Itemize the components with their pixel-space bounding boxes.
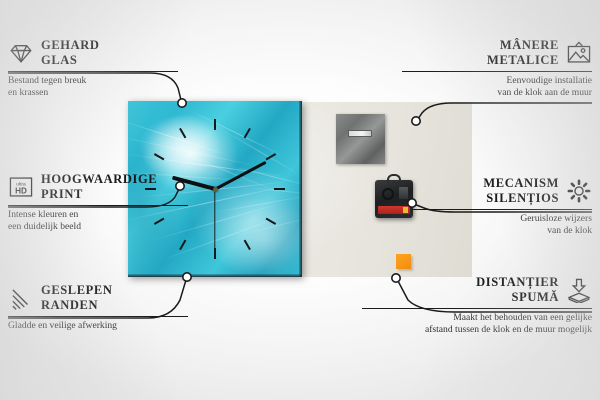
callout-desc-2: van de klok [412, 225, 592, 237]
callout-desc-2: van de klok aan de muur [402, 87, 592, 99]
callout-gehard-glas: GEHARD GLAS Bestand tegen breuk en krass… [8, 38, 178, 98]
svg-text:HD: HD [15, 187, 27, 196]
clock-tick [214, 119, 216, 130]
spacer-press-icon [566, 277, 592, 303]
beveled-edges-icon [8, 285, 34, 311]
callout-desc-1: Maakt het behouden van een gelijke [362, 312, 592, 324]
callout-title: GEHARD GLAS [41, 38, 99, 68]
callout-head: GEHARD GLAS [8, 38, 178, 68]
callout-rule [402, 71, 592, 72]
callout-rule [362, 308, 592, 309]
callout-desc-1: Intense kleuren en [8, 209, 188, 221]
foam-spacer [396, 254, 411, 269]
callout-desc-2: en krassen [8, 87, 178, 99]
infographic-canvas: GEHARD GLAS Bestand tegen breuk en krass… [0, 0, 600, 400]
callout-manere-metalice: MÂNERE METALICE Eenvoudige installatie v… [402, 38, 592, 98]
gear-icon [566, 178, 592, 204]
callout-title: HOOGWAARDIGE PRINT [41, 172, 157, 202]
callout-head: MECANISM SILENȚIOS [412, 176, 592, 206]
callout-desc-2: afstand tussen de klok en de muur mogeli… [362, 324, 592, 336]
diamond-icon [8, 40, 34, 66]
callout-rule [412, 209, 592, 210]
battery [378, 206, 410, 214]
callout-desc-1: Bestand tegen breuk [8, 75, 178, 87]
callout-head: DISTANȚIER SPUMĂ [362, 275, 592, 305]
callout-title: MECANISM SILENȚIOS [483, 176, 559, 206]
callout-desc-1: Eenvoudige installatie [402, 75, 592, 87]
callout-title: GESLEPEN RANDEN [41, 283, 113, 313]
callout-geslepen-randen: GESLEPEN RANDEN Gladde en veilige afwerk… [8, 283, 188, 332]
callout-head: GESLEPEN RANDEN [8, 283, 188, 313]
callout-desc-2: een duidelijk beeld [8, 221, 188, 233]
clock-tick [274, 188, 285, 190]
mechanism-hanger-loop [387, 174, 401, 183]
callout-rule [8, 71, 178, 72]
callout-title: MÂNERE METALICE [487, 38, 559, 68]
callout-hoogwaardige-print: ultra HD HOOGWAARDIGE PRINT Intense kleu… [8, 172, 188, 232]
metal-hanger-plate [336, 114, 385, 164]
callout-rule [8, 205, 188, 206]
callout-desc-1: Geruisloze wijzers [412, 213, 592, 225]
callout-head: MÂNERE METALICE [402, 38, 592, 68]
callout-rule [8, 316, 188, 317]
clock-center-pivot [213, 187, 218, 192]
picture-frame-hanger-icon [566, 40, 592, 66]
mechanism-shaft [382, 188, 394, 200]
callout-desc-1: Gladde en veilige afwerking [8, 320, 188, 332]
ultra-hd-icon: ultra HD [8, 174, 34, 200]
hanger-slot [348, 130, 372, 137]
mechanism-dial [399, 187, 408, 199]
callout-head: ultra HD HOOGWAARDIGE PRINT [8, 172, 188, 202]
callout-title: DISTANȚIER SPUMĂ [476, 275, 559, 305]
glass-edge-bottom [128, 274, 302, 277]
clock-mechanism [375, 180, 413, 218]
callout-distantier-spuma: DISTANȚIER SPUMĂ Maakt het behouden van … [362, 275, 592, 335]
callout-mecanism-silentios: MECANISM SILENȚIOS Geruisloze wijzers va… [412, 176, 592, 236]
glass-edge-right [299, 101, 302, 277]
